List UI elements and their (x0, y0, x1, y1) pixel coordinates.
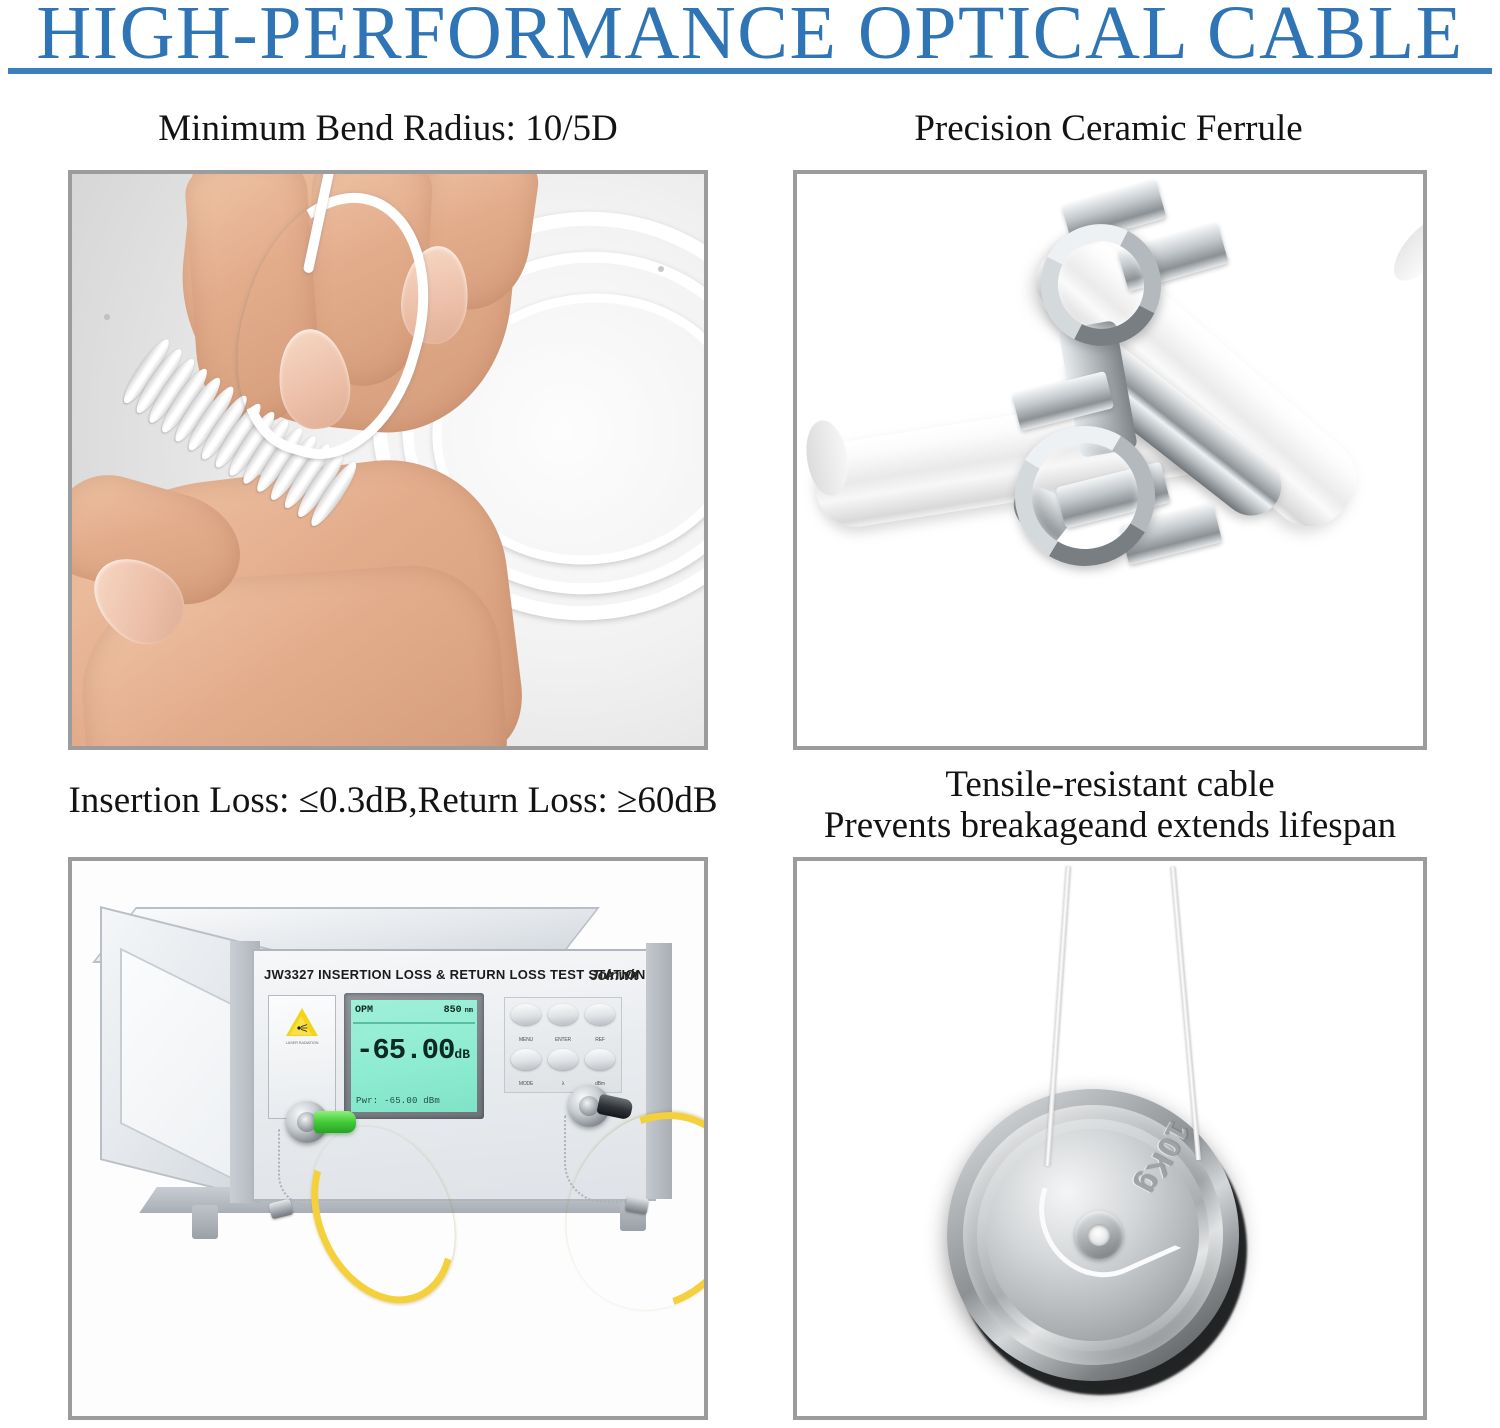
image-panel-ceramic-ferrule (793, 170, 1427, 750)
infographic-sheet: HIGH-PERFORMANCE OPTICAL CABLE Minimum B… (0, 0, 1500, 1428)
key-label: MENU (508, 1037, 544, 1043)
key-cap (511, 1004, 541, 1025)
caption-tensile-line1: Tensile-resistant cable (780, 764, 1440, 805)
lcd-main-reading: -65.00dB (351, 1034, 475, 1072)
key-cap (585, 1049, 615, 1070)
dust-speck (104, 314, 110, 320)
caption-bend-radius: Minimum Bend Radius: 10/5D (68, 107, 708, 151)
instrument-model-text: JW3327 INSERTION LOSS & RETURN LOSS TEST… (264, 967, 646, 982)
key-cap (548, 1049, 578, 1070)
dust-speck (658, 266, 664, 272)
ceramic-ferrule-rod-end-right (1384, 208, 1427, 290)
laser-warning-text: LASER RADIATION (275, 1040, 329, 1045)
page-title: HIGH-PERFORMANCE OPTICAL CABLE (0, 0, 1500, 72)
title-underline-rule (8, 68, 1492, 74)
lcd-status-bar: OPM 850 nm (351, 1000, 477, 1020)
lcd-wavelength: 850 nm (444, 1005, 473, 1016)
test-station-instrument: JW3327 INSERTION LOSS & RETURN LOSS TEST… (100, 911, 660, 1241)
lcd-mode-label: OPM (355, 1005, 373, 1016)
lcd-bezel: OPM 850 nm -65.00dB Pwr: -65.00 dBm (344, 993, 484, 1119)
keypad-key-mode[interactable]: MODE (508, 1046, 544, 1090)
lcd-wavelength-value: 850 (444, 1005, 462, 1016)
keypad-key-ref[interactable]: REF (582, 1001, 618, 1045)
instrument-model-label: JW3327 INSERTION LOSS & RETURN LOSS TEST… (264, 967, 644, 982)
instrument-foot (192, 1205, 218, 1239)
photo-ceramic-ferrule-assembly (797, 174, 1423, 746)
lcd-main-unit: dB (454, 1047, 470, 1062)
lcd-screen: OPM 850 nm -65.00dB Pwr: -65.00 dBm (351, 1000, 477, 1112)
green-fiber-connector (314, 1111, 356, 1133)
instrument-keypad[interactable]: MENU ENTER REF MODE (504, 997, 622, 1093)
keypad-key-enter[interactable]: ENTER (545, 1001, 581, 1045)
photo-hands-coiling-fiber (72, 174, 704, 746)
lcd-power-reading: Pwr: -65.00 dBm (356, 1096, 440, 1106)
key-label: λ (545, 1081, 581, 1087)
key-label: REF (582, 1037, 618, 1043)
lcd-main-value: -65.00 (356, 1034, 454, 1067)
caption-ceramic-ferrule: Precision Ceramic Ferrule (790, 107, 1427, 151)
instrument-brand-logo: Joinwit (590, 967, 638, 984)
lcd-divider-line (353, 1022, 475, 1024)
dust-cap-chain-right (564, 1115, 636, 1203)
image-panel-bend-radius (68, 170, 708, 750)
key-label: MODE (508, 1081, 544, 1087)
key-label: ENTER (545, 1037, 581, 1043)
lcd-wavelength-unit: nm (465, 1007, 473, 1015)
photo-test-station: JW3327 INSERTION LOSS & RETURN LOSS TEST… (72, 861, 704, 1416)
key-cap (548, 1004, 578, 1025)
laser-beam-icon (296, 1022, 308, 1034)
key-cap (585, 1004, 615, 1025)
caption-tensile-line2: Prevents breakageand extends lifespan (780, 805, 1440, 846)
caption-insertion-loss: Insertion Loss: ≤0.3dB,Return Loss: ≥60d… (48, 779, 738, 823)
port-hub (579, 1096, 599, 1116)
caption-tensile-resistant: Tensile-resistant cable Prevents breakag… (780, 764, 1440, 846)
key-cap (511, 1049, 541, 1070)
keypad-key-menu[interactable]: MENU (508, 1001, 544, 1045)
keypad-key-dbm[interactable]: dBm (582, 1046, 618, 1090)
keypad-key-lambda[interactable]: λ (545, 1046, 581, 1090)
image-panel-insertion-loss: JW3327 INSERTION LOSS & RETURN LOSS TEST… (68, 857, 708, 1420)
